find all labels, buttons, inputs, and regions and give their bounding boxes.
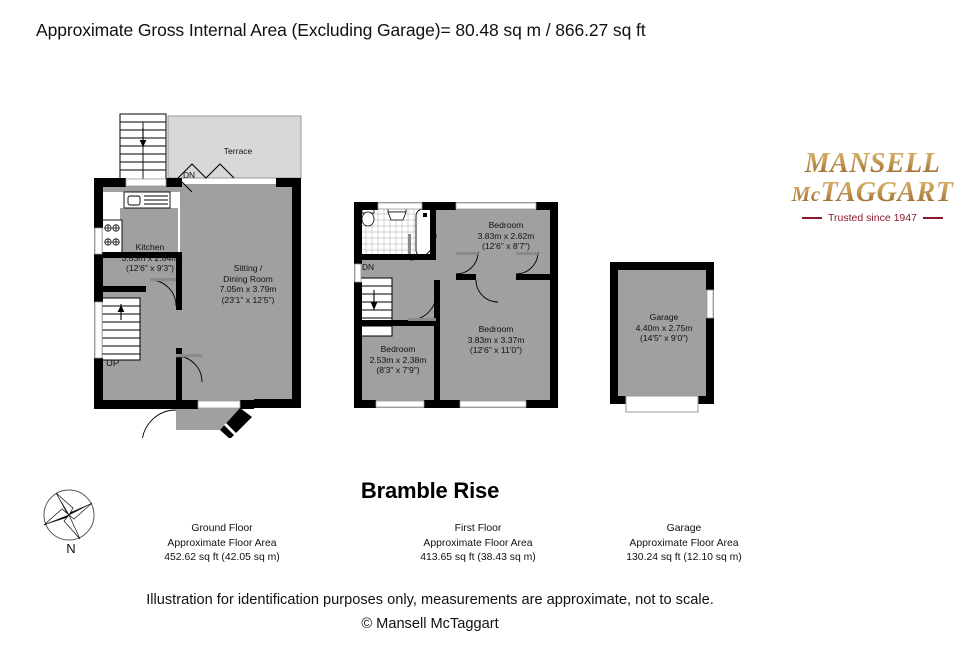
logo-tagline-row: Trusted since 1947 [790, 212, 955, 224]
wall-bathroom-right [430, 208, 436, 260]
area-block-ground: Ground Floor Approximate Floor Area 452.… [142, 522, 302, 566]
room-label-garage: Garage 4.40m x 2.75m (14'5" x 9'0") [616, 312, 712, 344]
logo-mc-prefix: Mc [792, 182, 821, 206]
floorplan-page: Approximate Gross Internal Area (Excludi… [0, 0, 980, 653]
stair-marker-dn-first: DN [362, 262, 374, 272]
room-label-bedroom-3: Bedroom 2.53m x 2.38m (8'3" x 7'9") [356, 344, 440, 376]
page-title: Bramble Rise [0, 478, 860, 504]
door-leaf-bed3 [408, 318, 436, 321]
washbasin-fixture [388, 208, 406, 220]
room-label-bedroom-1: Bedroom 3.83m x 2.62m (12'6" x 8'7") [456, 220, 556, 252]
first-dn-stair-box [360, 278, 392, 336]
door-leaf-bed1 [456, 252, 478, 255]
door-opening-bed1 [434, 274, 456, 280]
logo-line-2: McTAGGART [790, 179, 955, 207]
window-bathroom-top [378, 203, 422, 209]
area-value-garage: 130.24 sq ft (12.10 sq m) [604, 551, 764, 566]
logo-rule-left [802, 217, 822, 219]
area-title-garage: Garage [604, 522, 764, 537]
area-subtitle-first: Approximate Floor Area [398, 537, 558, 552]
footer-copyright: © Mansell McTaggart [0, 616, 860, 632]
door-leaf-bed2 [516, 252, 538, 255]
garage-door-opening [626, 396, 698, 412]
area-value-first: 413.65 sq ft (38.43 sq m) [398, 551, 558, 566]
area-subtitle-ground: Approximate Floor Area [142, 537, 302, 552]
bay-right-wall [254, 399, 301, 408]
room-label-kitchen: Kitchen 3.83m x 2.84m (12'6" x 9'3") [106, 242, 194, 274]
window-hall-left [95, 302, 102, 358]
window-sitting-bottom [198, 401, 240, 408]
logo-taggart: TAGGART [821, 177, 954, 208]
door-swing-front [142, 410, 176, 438]
first-floor-plan: DN Bedroom 3.83m x 2.62m (12'6" x 8'7") … [348, 196, 564, 422]
compass-icon [36, 487, 106, 545]
window-bedroom3-bottom [376, 401, 424, 407]
room-label-terrace: Terrace [202, 146, 274, 157]
wall-hall-top [102, 286, 146, 292]
kitchen-oven-icon [128, 196, 140, 205]
garage-plan: Garage 4.40m x 2.75m (14'5" x 9'0") [604, 256, 728, 422]
window-bedroom2-bottom [460, 401, 526, 407]
area-block-garage: Garage Approximate Floor Area 130.24 sq … [604, 522, 764, 566]
room-label-sitting-dining: Sitting / Dining Room 7.05m x 3.79m (23'… [200, 263, 296, 305]
stair-marker-up-ground: UP [106, 358, 119, 369]
wall-bathroom-bottom [360, 254, 436, 260]
gross-internal-area-heading: Approximate Gross Internal Area (Excludi… [36, 20, 646, 41]
compass-rose: N [36, 487, 106, 565]
window-kitchen-top [126, 179, 166, 186]
toilet-fixture [362, 209, 374, 226]
window-kitchen-left [95, 228, 102, 254]
area-value-ground: 452.62 sq ft (42.05 sq m) [142, 551, 302, 566]
area-title-ground: Ground Floor [142, 522, 302, 537]
door-leaf-sitting [176, 354, 202, 357]
area-title-first: First Floor [398, 522, 558, 537]
area-block-first: First Floor Approximate Floor Area 413.6… [398, 522, 558, 566]
room-label-bedroom-2: Bedroom 3.83m x 3.37m (12'6" x 11'0") [446, 324, 546, 356]
door-leaf-kitchen [150, 278, 176, 281]
stair-marker-dn-ground: DN [183, 170, 195, 180]
ground-floor-plan: Terrace DN UP Kitchen 3.83m x 2.84m (12'… [80, 108, 330, 438]
door-opening-bed2 [476, 274, 516, 280]
logo-tagline: Trusted since 1947 [828, 212, 917, 224]
footer-disclaimer: Illustration for identification purposes… [0, 592, 860, 608]
mansell-mctaggart-logo: MANSELL McTAGGART Trusted since 1947 [790, 150, 955, 224]
window-landing-left [355, 264, 361, 282]
logo-line-1: MANSELL [790, 150, 955, 178]
area-subtitle-garage: Approximate Floor Area [604, 537, 764, 552]
compass-north-label: N [36, 541, 106, 556]
window-bedroom1-top [456, 203, 536, 209]
logo-rule-right [923, 217, 943, 219]
